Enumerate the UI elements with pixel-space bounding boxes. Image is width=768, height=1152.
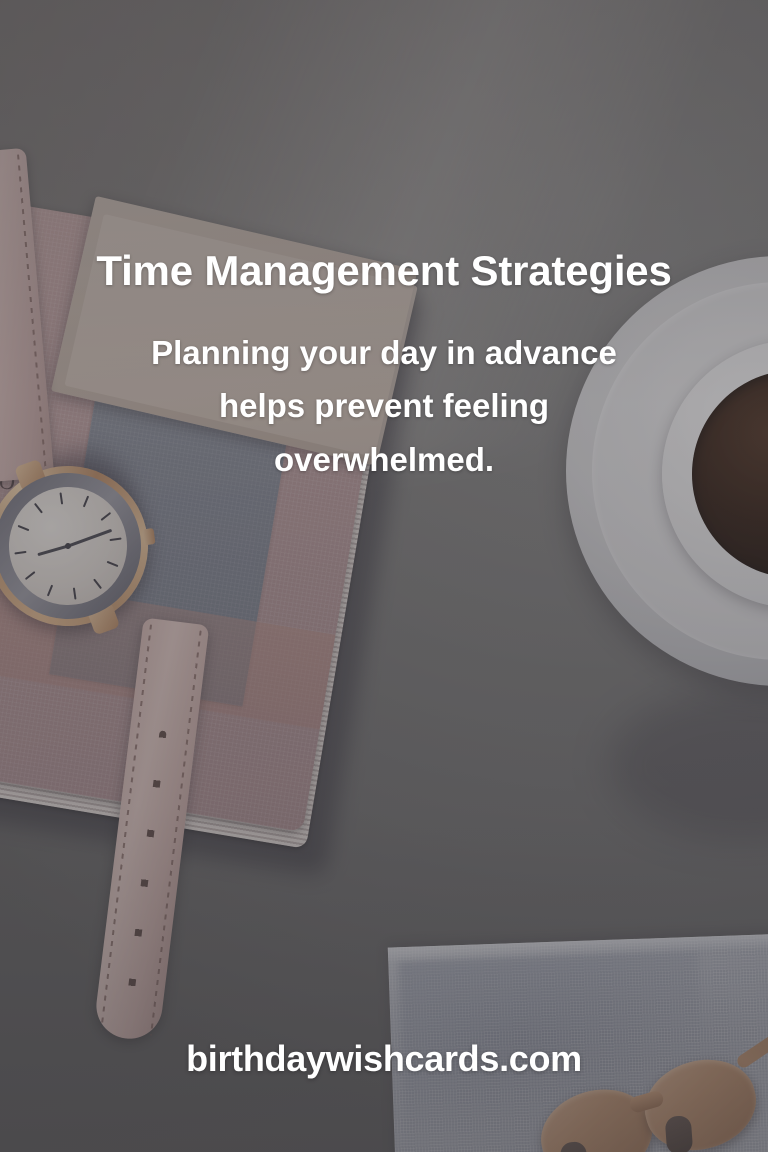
subhead-line: helps prevent feeling xyxy=(84,379,684,432)
text-block: Time Management Strategies Planning your… xyxy=(0,250,768,486)
overlay-gradient xyxy=(0,0,768,1152)
watermark-site-url: birthdaywishcards.com xyxy=(0,1038,768,1080)
subhead-line: overwhelmed. xyxy=(84,433,684,486)
headline: Time Management Strategies xyxy=(24,250,744,292)
quote-card: NOTES xyxy=(0,0,768,1152)
subhead: Planning your day in advance helps preve… xyxy=(84,326,684,486)
subhead-line: Planning your day in advance xyxy=(84,326,684,379)
